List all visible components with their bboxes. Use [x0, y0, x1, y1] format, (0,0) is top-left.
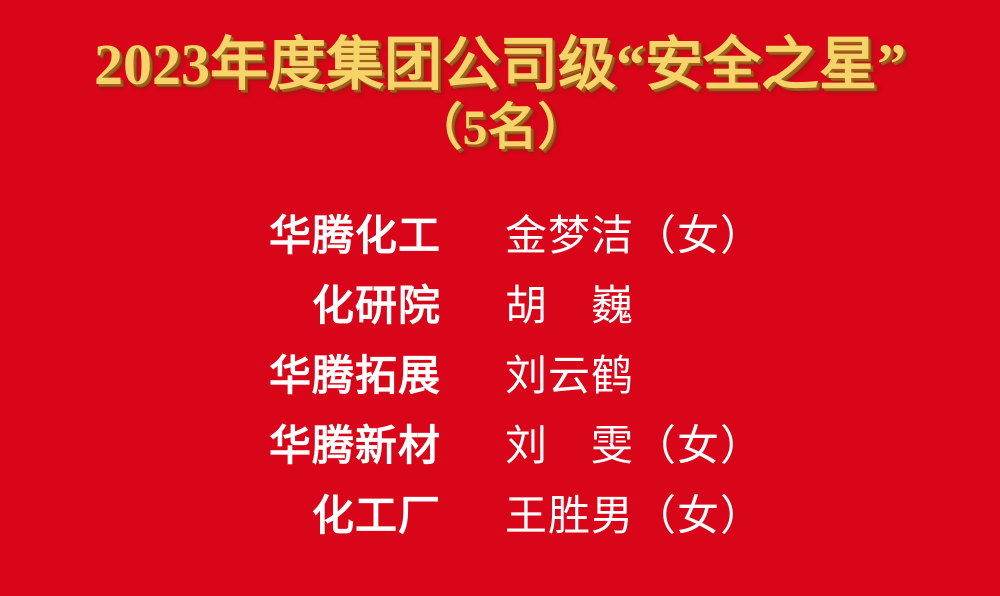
winner-name: 王胜男（女）: [505, 482, 785, 552]
award-poster: 2023年度集团公司级“安全之星” （5名） 华腾化工 金梦洁（女） 化研院 胡…: [0, 0, 1000, 596]
title-line-primary: 2023年度集团公司级“安全之星”: [0, 34, 1000, 96]
winner-row: 华腾拓展 刘云鹤: [0, 341, 1000, 411]
winner-list: 华腾化工 金梦洁（女） 化研院 胡 巍 华腾拓展 刘云鹤 华腾新材 刘 雯（女）…: [0, 201, 1000, 551]
winner-row: 华腾新材 刘 雯（女）: [0, 411, 1000, 481]
winner-row: 华腾化工 金梦洁（女）: [0, 201, 1000, 271]
winner-organization: 华腾新材: [215, 411, 441, 481]
winner-row: 化工厂 王胜男（女）: [0, 481, 1000, 551]
poster-title: 2023年度集团公司级“安全之星” （5名）: [0, 34, 1000, 156]
winner-organization: 化研院: [215, 271, 441, 341]
winner-name: 刘 雯（女）: [505, 412, 785, 482]
winner-organization: 化工厂: [215, 481, 441, 551]
winner-row: 化研院 胡 巍: [0, 271, 1000, 341]
title-line-count: （5名）: [0, 98, 1000, 156]
winner-organization: 华腾拓展: [215, 341, 441, 411]
winner-name: 刘云鹤: [505, 342, 785, 412]
winner-organization: 华腾化工: [215, 201, 441, 271]
winner-name: 金梦洁（女）: [505, 202, 785, 272]
winner-name: 胡 巍: [505, 272, 785, 342]
